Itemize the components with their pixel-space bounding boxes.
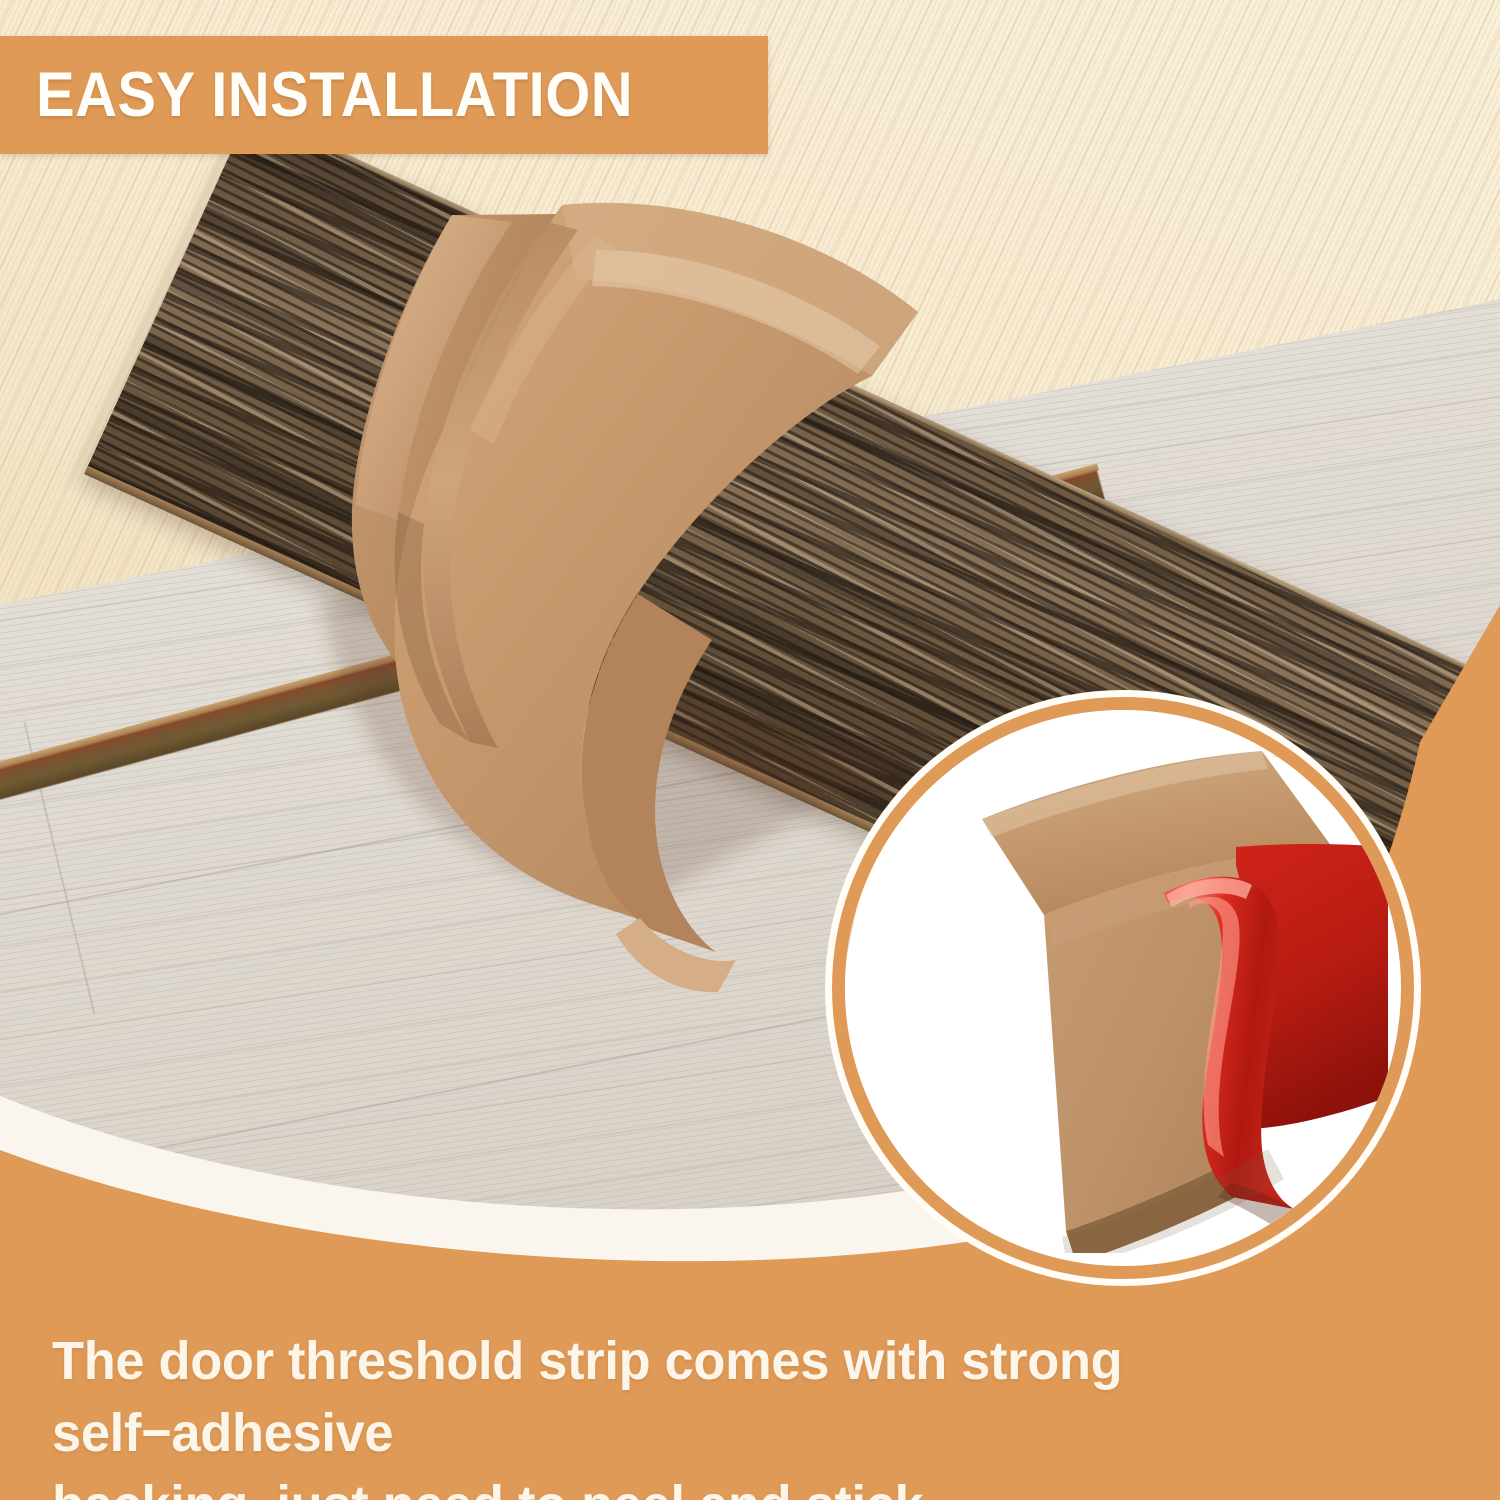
header-banner: EASY INSTALLATION xyxy=(0,36,768,154)
caption-block: The door threshold strip comes with stro… xyxy=(52,1326,1420,1500)
adhesive-backing-closeup-inset xyxy=(832,697,1414,1279)
inset-photo xyxy=(832,697,1388,1253)
product-photo-scene xyxy=(0,0,1500,1500)
banner-title: EASY INSTALLATION xyxy=(36,59,633,131)
product-marketing-image: EASY INSTALLATION The door threshold str… xyxy=(0,0,1500,1500)
caption-line-1: The door threshold strip comes with stro… xyxy=(52,1326,1420,1470)
caption-line-2: backing, just need to peel and stick. xyxy=(52,1470,1420,1500)
